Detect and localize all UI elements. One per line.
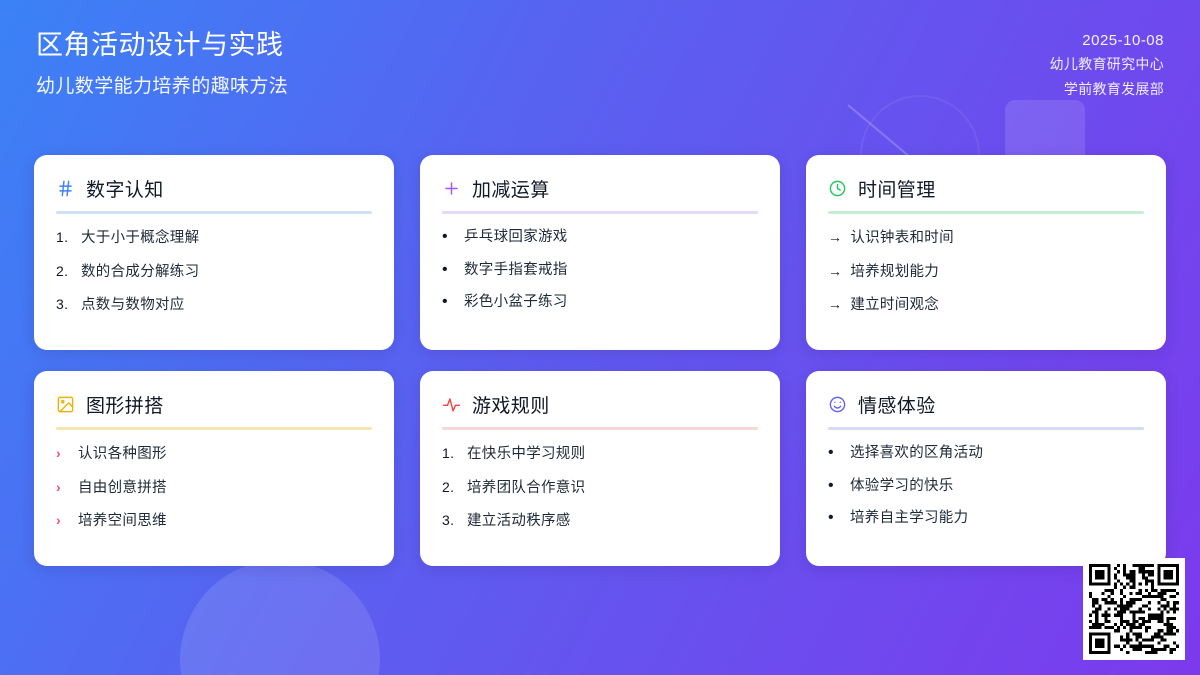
qr-code[interactable] — [1083, 558, 1185, 660]
card-grid: 数字认知1.大于小于概念理解2.数的合成分解练习3.点数与数物对应加减运算•乒乓… — [34, 155, 1166, 566]
activity-pulse-icon — [442, 395, 461, 414]
list-marker: 2. — [442, 478, 459, 497]
list-item[interactable]: •培养自主学习能力 — [828, 509, 1144, 529]
list-marker: › — [56, 444, 70, 463]
page-subtitle: 幼儿数学能力培养的趣味方法 — [36, 71, 288, 98]
list-item-text: 点数与数物对应 — [81, 296, 185, 316]
list-marker: • — [828, 510, 842, 526]
list-item-text: 大于小于概念理解 — [81, 229, 199, 249]
card-list: ›认识各种图形›自由创意拼搭›培养空间思维 — [56, 444, 372, 532]
card-title: 时间管理 — [858, 175, 936, 202]
card-list: 1.大于小于概念理解2.数的合成分解练习3.点数与数物对应 — [56, 228, 372, 316]
card-header: 图形拼搭 — [56, 391, 372, 427]
list-item-text: 培养空间思维 — [78, 512, 167, 532]
card-header: 情感体验 — [828, 391, 1144, 427]
list-marker: • — [442, 294, 456, 310]
list-marker: → — [828, 295, 842, 314]
content-card[interactable]: 情感体验•选择喜欢的区角活动•体验学习的快乐•培养自主学习能力 — [806, 371, 1166, 566]
list-item[interactable]: ›认识各种图形 — [56, 444, 372, 465]
card-divider — [828, 427, 1144, 430]
card-list: 1.在快乐中学习规则2.培养团队合作意识3.建立活动秩序感 — [442, 444, 758, 532]
list-item-text: 建立活动秩序感 — [467, 512, 571, 532]
plus-icon — [442, 179, 461, 198]
list-item-text: 培养团队合作意识 — [467, 479, 585, 499]
list-item-text: 在快乐中学习规则 — [467, 445, 585, 465]
page-title: 区角活动设计与实践 — [36, 28, 288, 63]
list-item[interactable]: 2.培养团队合作意识 — [442, 478, 758, 499]
card-header: 时间管理 — [828, 175, 1144, 211]
list-marker: 1. — [442, 444, 459, 463]
list-item-text: 彩色小盆子练习 — [464, 293, 568, 313]
list-marker: › — [56, 511, 70, 530]
list-item-text: 数的合成分解练习 — [81, 263, 199, 283]
list-marker: → — [828, 228, 842, 247]
list-item[interactable]: •彩色小盆子练习 — [442, 293, 758, 313]
list-item-text: 选择喜欢的区角活动 — [850, 444, 983, 464]
card-title: 图形拼搭 — [86, 391, 164, 418]
list-marker: 1. — [56, 228, 73, 247]
title-block: 区角活动设计与实践 幼儿数学能力培养的趣味方法 — [36, 28, 288, 98]
content-card[interactable]: 时间管理→认识钟表和时间→培养规划能力→建立时间观念 — [806, 155, 1166, 350]
list-item[interactable]: •数字手指套戒指 — [442, 261, 758, 281]
list-item[interactable]: 3.建立活动秩序感 — [442, 511, 758, 532]
card-list: •乒乓球回家游戏•数字手指套戒指•彩色小盆子练习 — [442, 228, 758, 313]
content-card[interactable]: 图形拼搭›认识各种图形›自由创意拼搭›培养空间思维 — [34, 371, 394, 566]
list-item[interactable]: →建立时间观念 — [828, 295, 1144, 316]
list-item-text: 认识各种图形 — [78, 445, 167, 465]
slide-canvas: 区角活动设计与实践 幼儿数学能力培养的趣味方法 2025-10-08 幼儿教育研… — [0, 0, 1200, 675]
list-marker: • — [442, 229, 456, 245]
card-divider — [442, 427, 758, 430]
department-label: 学前教育发展部 — [1064, 79, 1164, 99]
list-item[interactable]: •乒乓球回家游戏 — [442, 228, 758, 248]
list-item-text: 自由创意拼搭 — [78, 479, 167, 499]
organization-label: 幼儿教育研究中心 — [1050, 54, 1164, 74]
list-item-text: 乒乓球回家游戏 — [464, 228, 568, 248]
list-item[interactable]: •体验学习的快乐 — [828, 477, 1144, 497]
list-marker: 3. — [442, 511, 459, 530]
list-marker: • — [828, 478, 842, 494]
card-title: 游戏规则 — [472, 391, 550, 418]
list-item[interactable]: →培养规划能力 — [828, 262, 1144, 283]
list-item-text: 认识钟表和时间 — [850, 229, 954, 249]
content-card[interactable]: 数字认知1.大于小于概念理解2.数的合成分解练习3.点数与数物对应 — [34, 155, 394, 350]
card-header: 游戏规则 — [442, 391, 758, 427]
card-header: 加减运算 — [442, 175, 758, 211]
list-item[interactable]: ›自由创意拼搭 — [56, 478, 372, 499]
date-label: 2025-10-08 — [1082, 32, 1164, 49]
list-marker: → — [828, 262, 842, 281]
card-divider — [56, 427, 372, 430]
list-marker: • — [442, 262, 456, 278]
content-card[interactable]: 游戏规则1.在快乐中学习规则2.培养团队合作意识3.建立活动秩序感 — [420, 371, 780, 566]
list-item-text: 数字手指套戒指 — [464, 261, 568, 281]
smiley-icon — [828, 395, 847, 414]
list-marker: • — [828, 445, 842, 461]
list-item[interactable]: •选择喜欢的区角活动 — [828, 444, 1144, 464]
list-item-text: 培养规划能力 — [850, 263, 939, 283]
card-title: 数字认知 — [86, 175, 164, 202]
card-divider — [56, 211, 372, 214]
content-card[interactable]: 加减运算•乒乓球回家游戏•数字手指套戒指•彩色小盆子练习 — [420, 155, 780, 350]
card-title: 加减运算 — [472, 175, 550, 202]
header-meta: 2025-10-08 幼儿教育研究中心 学前教育发展部 — [1050, 28, 1164, 99]
image-icon — [56, 395, 75, 414]
qr-code-graphic — [1089, 564, 1179, 654]
list-item-text: 建立时间观念 — [850, 296, 939, 316]
card-header: 数字认知 — [56, 175, 372, 211]
list-item[interactable]: →认识钟表和时间 — [828, 228, 1144, 249]
list-marker: 2. — [56, 262, 73, 281]
list-marker: 3. — [56, 295, 73, 314]
slide-header: 区角活动设计与实践 幼儿数学能力培养的趣味方法 2025-10-08 幼儿教育研… — [0, 0, 1200, 99]
list-item[interactable]: 3.点数与数物对应 — [56, 295, 372, 316]
list-item[interactable]: 1.在快乐中学习规则 — [442, 444, 758, 465]
list-item-text: 培养自主学习能力 — [850, 509, 968, 529]
list-item[interactable]: ›培养空间思维 — [56, 511, 372, 532]
card-divider — [442, 211, 758, 214]
clock-icon — [828, 179, 847, 198]
list-item-text: 体验学习的快乐 — [850, 477, 954, 497]
card-title: 情感体验 — [858, 391, 936, 418]
card-list: →认识钟表和时间→培养规划能力→建立时间观念 — [828, 228, 1144, 316]
card-divider — [828, 211, 1144, 214]
list-item[interactable]: 1.大于小于概念理解 — [56, 228, 372, 249]
list-marker: › — [56, 478, 70, 497]
decorative-circle-bottom — [180, 560, 380, 675]
hash-icon — [56, 179, 75, 198]
list-item[interactable]: 2.数的合成分解练习 — [56, 262, 372, 283]
card-list: •选择喜欢的区角活动•体验学习的快乐•培养自主学习能力 — [828, 444, 1144, 529]
